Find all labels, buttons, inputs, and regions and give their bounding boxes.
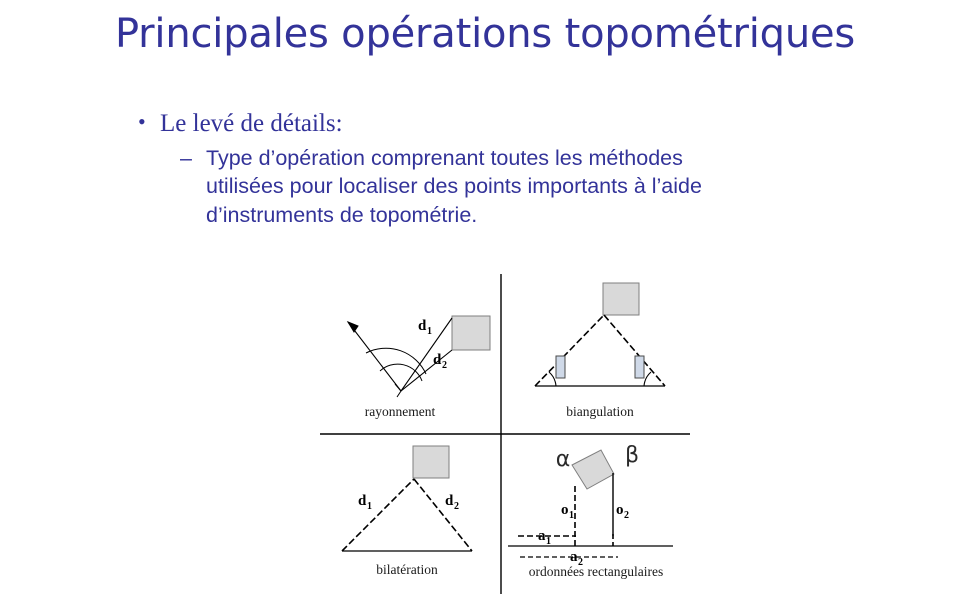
- bullet-level2: – Type d’opération comprenant toutes les…: [180, 144, 894, 229]
- label-o1-base: o: [561, 502, 569, 518]
- bullet-level1-text: Le levé de détails:: [160, 110, 343, 137]
- bullet-level2-line1: Type d’opération comprenant toutes les m…: [206, 144, 894, 172]
- body-content: • Le levé de détails: – Type d’opération…: [134, 110, 894, 229]
- bullet-level2-line2: utilisées pour localiser des points impo…: [206, 172, 894, 200]
- label-d1-base: d: [418, 318, 427, 334]
- angle-arc-outer: [366, 348, 426, 374]
- label-o1-sub: 1: [569, 510, 574, 521]
- page-title: Principales opérations topométriques: [60, 10, 910, 58]
- target-square-tilted: [572, 450, 614, 489]
- angle-arc-right: [644, 372, 651, 386]
- bullet-level1: • Le levé de détails:: [134, 110, 894, 138]
- topometry-methods-figure: d 1 d 2 rayonnement: [300, 268, 700, 594]
- label-a1-base: a: [538, 528, 546, 544]
- label-a1-sub: 1: [546, 536, 551, 547]
- instrument-left-icon: [556, 356, 565, 378]
- quadrant-bilateration: d 1 d 2 bilatération: [342, 446, 472, 577]
- sighting-line-left: [535, 315, 604, 386]
- label-d2-base: d: [445, 493, 454, 509]
- reference-direction-ray: [348, 322, 401, 391]
- distance-line-d2: [414, 479, 472, 551]
- quadrant-ordonnees-rectangulaires: α β o 1 o 2 a 1 a 2 ordonnées rectangula…: [508, 443, 673, 579]
- slide-canvas: Principales opérations topométriques • L…: [0, 0, 962, 594]
- target-square: [413, 446, 449, 478]
- caption-rayonnement: rayonnement: [365, 404, 436, 419]
- label-beta: β: [625, 443, 639, 468]
- label-d2-sub: 2: [442, 360, 447, 371]
- instrument-right-icon: [635, 356, 644, 378]
- label-o2-base: o: [616, 502, 624, 518]
- station-point-mark: [395, 384, 401, 397]
- label-d2-sub: 2: [454, 501, 459, 512]
- bullet-level2-line3: d’instruments de topométrie.: [206, 201, 894, 229]
- bullet-dot-icon: •: [138, 110, 146, 135]
- caption-biangulation: biangulation: [566, 404, 634, 419]
- arrowhead-icon: [348, 322, 358, 332]
- label-a2-base: a: [570, 549, 578, 565]
- label-d1-sub: 1: [427, 326, 432, 337]
- quadrant-rayonnement: d 1 d 2 rayonnement: [348, 316, 490, 419]
- distance-line-d1: [342, 479, 414, 551]
- bullet-dash-icon: –: [180, 144, 192, 172]
- quadrant-biangulation: biangulation: [535, 283, 665, 419]
- label-alpha: α: [556, 447, 571, 472]
- label-d1-sub: 1: [367, 501, 372, 512]
- caption-ordonnees-rectangulaires: ordonnées rectangulaires: [529, 564, 664, 579]
- angle-arc-left: [549, 372, 556, 386]
- label-d2-base: d: [433, 352, 442, 368]
- target-square: [452, 316, 490, 350]
- label-o2-sub: 2: [624, 510, 629, 521]
- target-square: [603, 283, 639, 315]
- label-d1-base: d: [358, 493, 367, 509]
- caption-bilateration: bilatération: [376, 562, 438, 577]
